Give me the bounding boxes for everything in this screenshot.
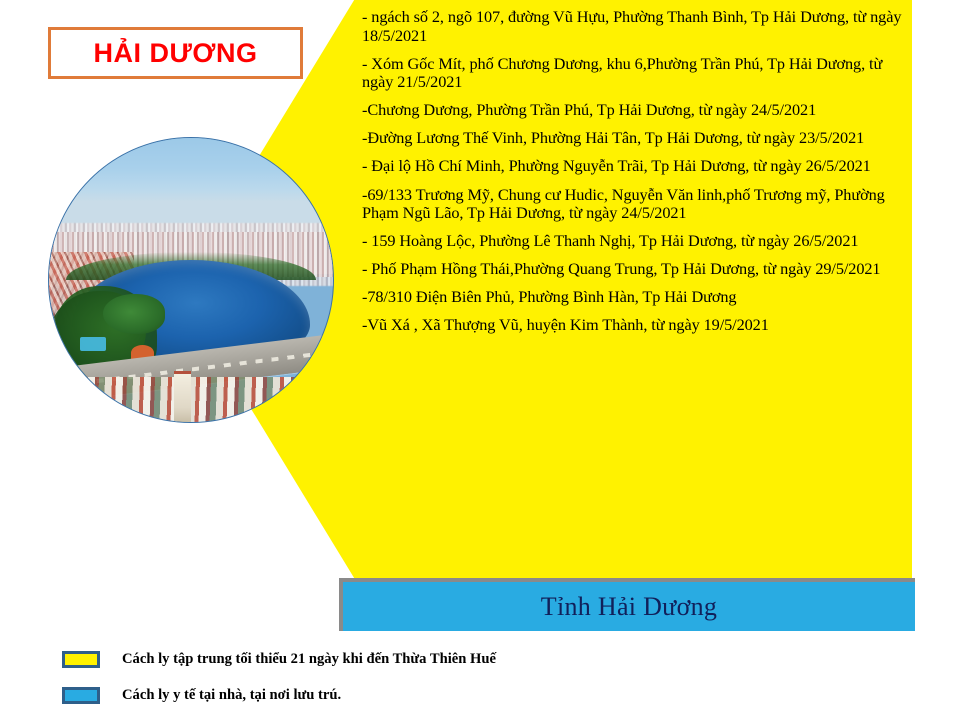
legend-label: Cách ly y tế tại nhà, tại nơi lưu trú. [122, 687, 341, 704]
list-item: -Đường Lương Thế Vinh, Phường Hải Tân, T… [362, 129, 908, 148]
legend: Cách ly tập trung tối thiểu 21 ngày khi … [62, 644, 496, 710]
aerial-city-lake-photo [48, 137, 334, 423]
list-item: - 159 Hoàng Lộc, Phường Lê Thanh Nghị, T… [362, 232, 908, 251]
legend-swatch-blue [62, 687, 100, 704]
page-title: HẢI DƯƠNG [94, 38, 258, 69]
list-item: - ngách số 2, ngõ 107, đường Vũ Hựu, Phư… [362, 8, 908, 45]
photo-island [103, 294, 165, 334]
legend-label: Cách ly tập trung tối thiểu 21 ngày khi … [122, 651, 496, 668]
legend-row: Cách ly tập trung tối thiểu 21 ngày khi … [62, 644, 496, 674]
address-list: - ngách số 2, ngõ 107, đường Vũ Hựu, Phư… [362, 8, 908, 570]
list-item: - Phố Phạm Hồng Thái,Phường Quang Trung,… [362, 260, 908, 279]
list-item: -78/310 Điện Biên Phủ, Phường Bình Hàn, … [362, 288, 908, 307]
photo-foreground-buildings [49, 377, 333, 422]
province-title-box: HẢI DƯƠNG [48, 27, 303, 79]
footer-bar-label: Tỉnh Hải Dương [541, 592, 717, 622]
photo-pool [80, 337, 106, 351]
list-item: - Đại lộ Hồ Chí Minh, Phường Nguyễn Trãi… [362, 157, 908, 176]
list-item: -69/133 Trương Mỹ, Chung cư Hudic, Nguyễ… [362, 186, 908, 223]
list-item: -Vũ Xá , Xã Thượng Vũ, huyện Kim Thành, … [362, 316, 908, 335]
list-item: -Chương Dương, Phường Trần Phú, Tp Hải D… [362, 101, 908, 120]
infographic-canvas: - ngách số 2, ngõ 107, đường Vũ Hựu, Phư… [0, 0, 960, 720]
footer-bar: Tỉnh Hải Dương [343, 582, 915, 631]
legend-swatch-yellow [62, 651, 100, 668]
photo-tower [174, 371, 191, 422]
legend-row: Cách ly y tế tại nhà, tại nơi lưu trú. [62, 680, 496, 710]
list-item: - Xóm Gốc Mít, phố Chương Dương, khu 6,P… [362, 55, 908, 92]
